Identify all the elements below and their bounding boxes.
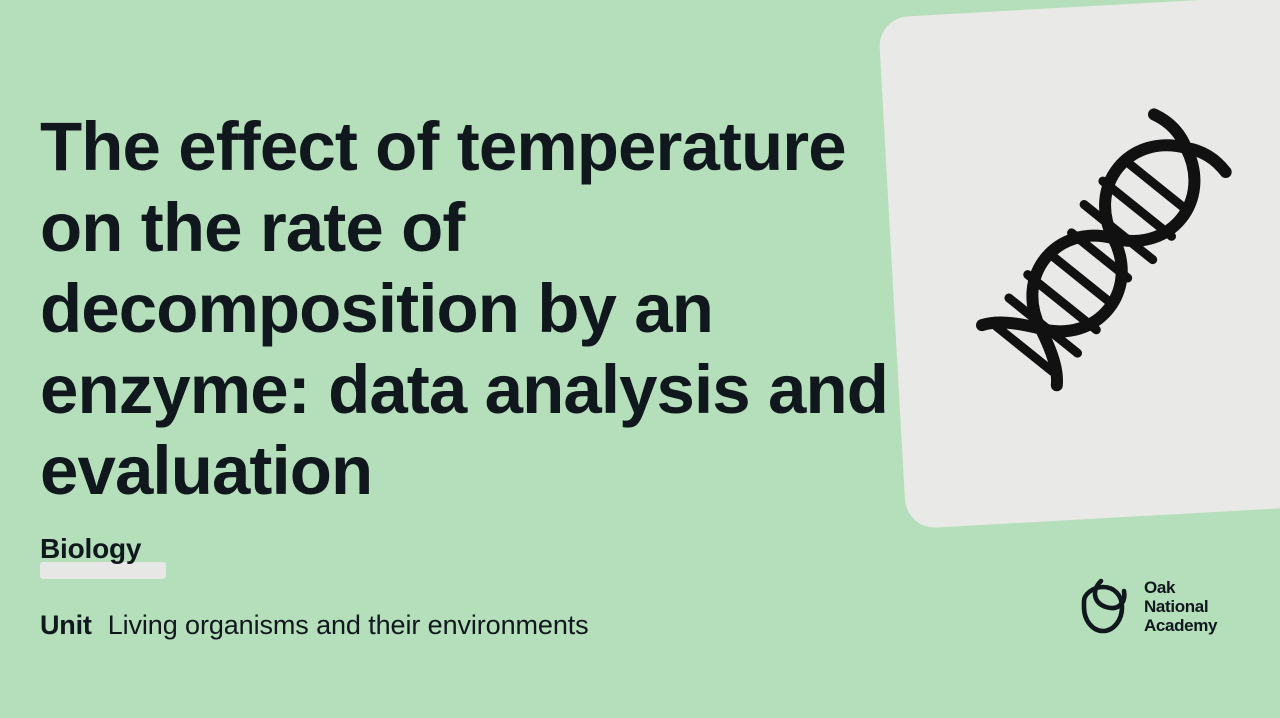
oak-national-academy-logo: Oak National Academy	[1076, 577, 1217, 635]
subject-label: Biology	[40, 531, 141, 567]
oak-acorn-icon	[1076, 577, 1132, 635]
logo-wordmark: Oak National Academy	[1144, 578, 1217, 635]
logo-line-2: National	[1144, 597, 1217, 616]
subject-row: Biology	[40, 531, 460, 567]
title-block: The effect of temperature on the rate of…	[40, 106, 900, 511]
logo-line-1: Oak	[1144, 578, 1217, 597]
logo-line-3: Academy	[1144, 616, 1217, 635]
dna-double-helix-icon	[960, 98, 1248, 403]
unit-label: Unit	[40, 610, 92, 641]
page-title: The effect of temperature on the rate of…	[40, 106, 890, 511]
lesson-title-slide: The effect of temperature on the rate of…	[0, 0, 1280, 718]
unit-row: Unit Living organisms and their environm…	[40, 610, 589, 641]
unit-value: Living organisms and their environments	[108, 610, 589, 641]
